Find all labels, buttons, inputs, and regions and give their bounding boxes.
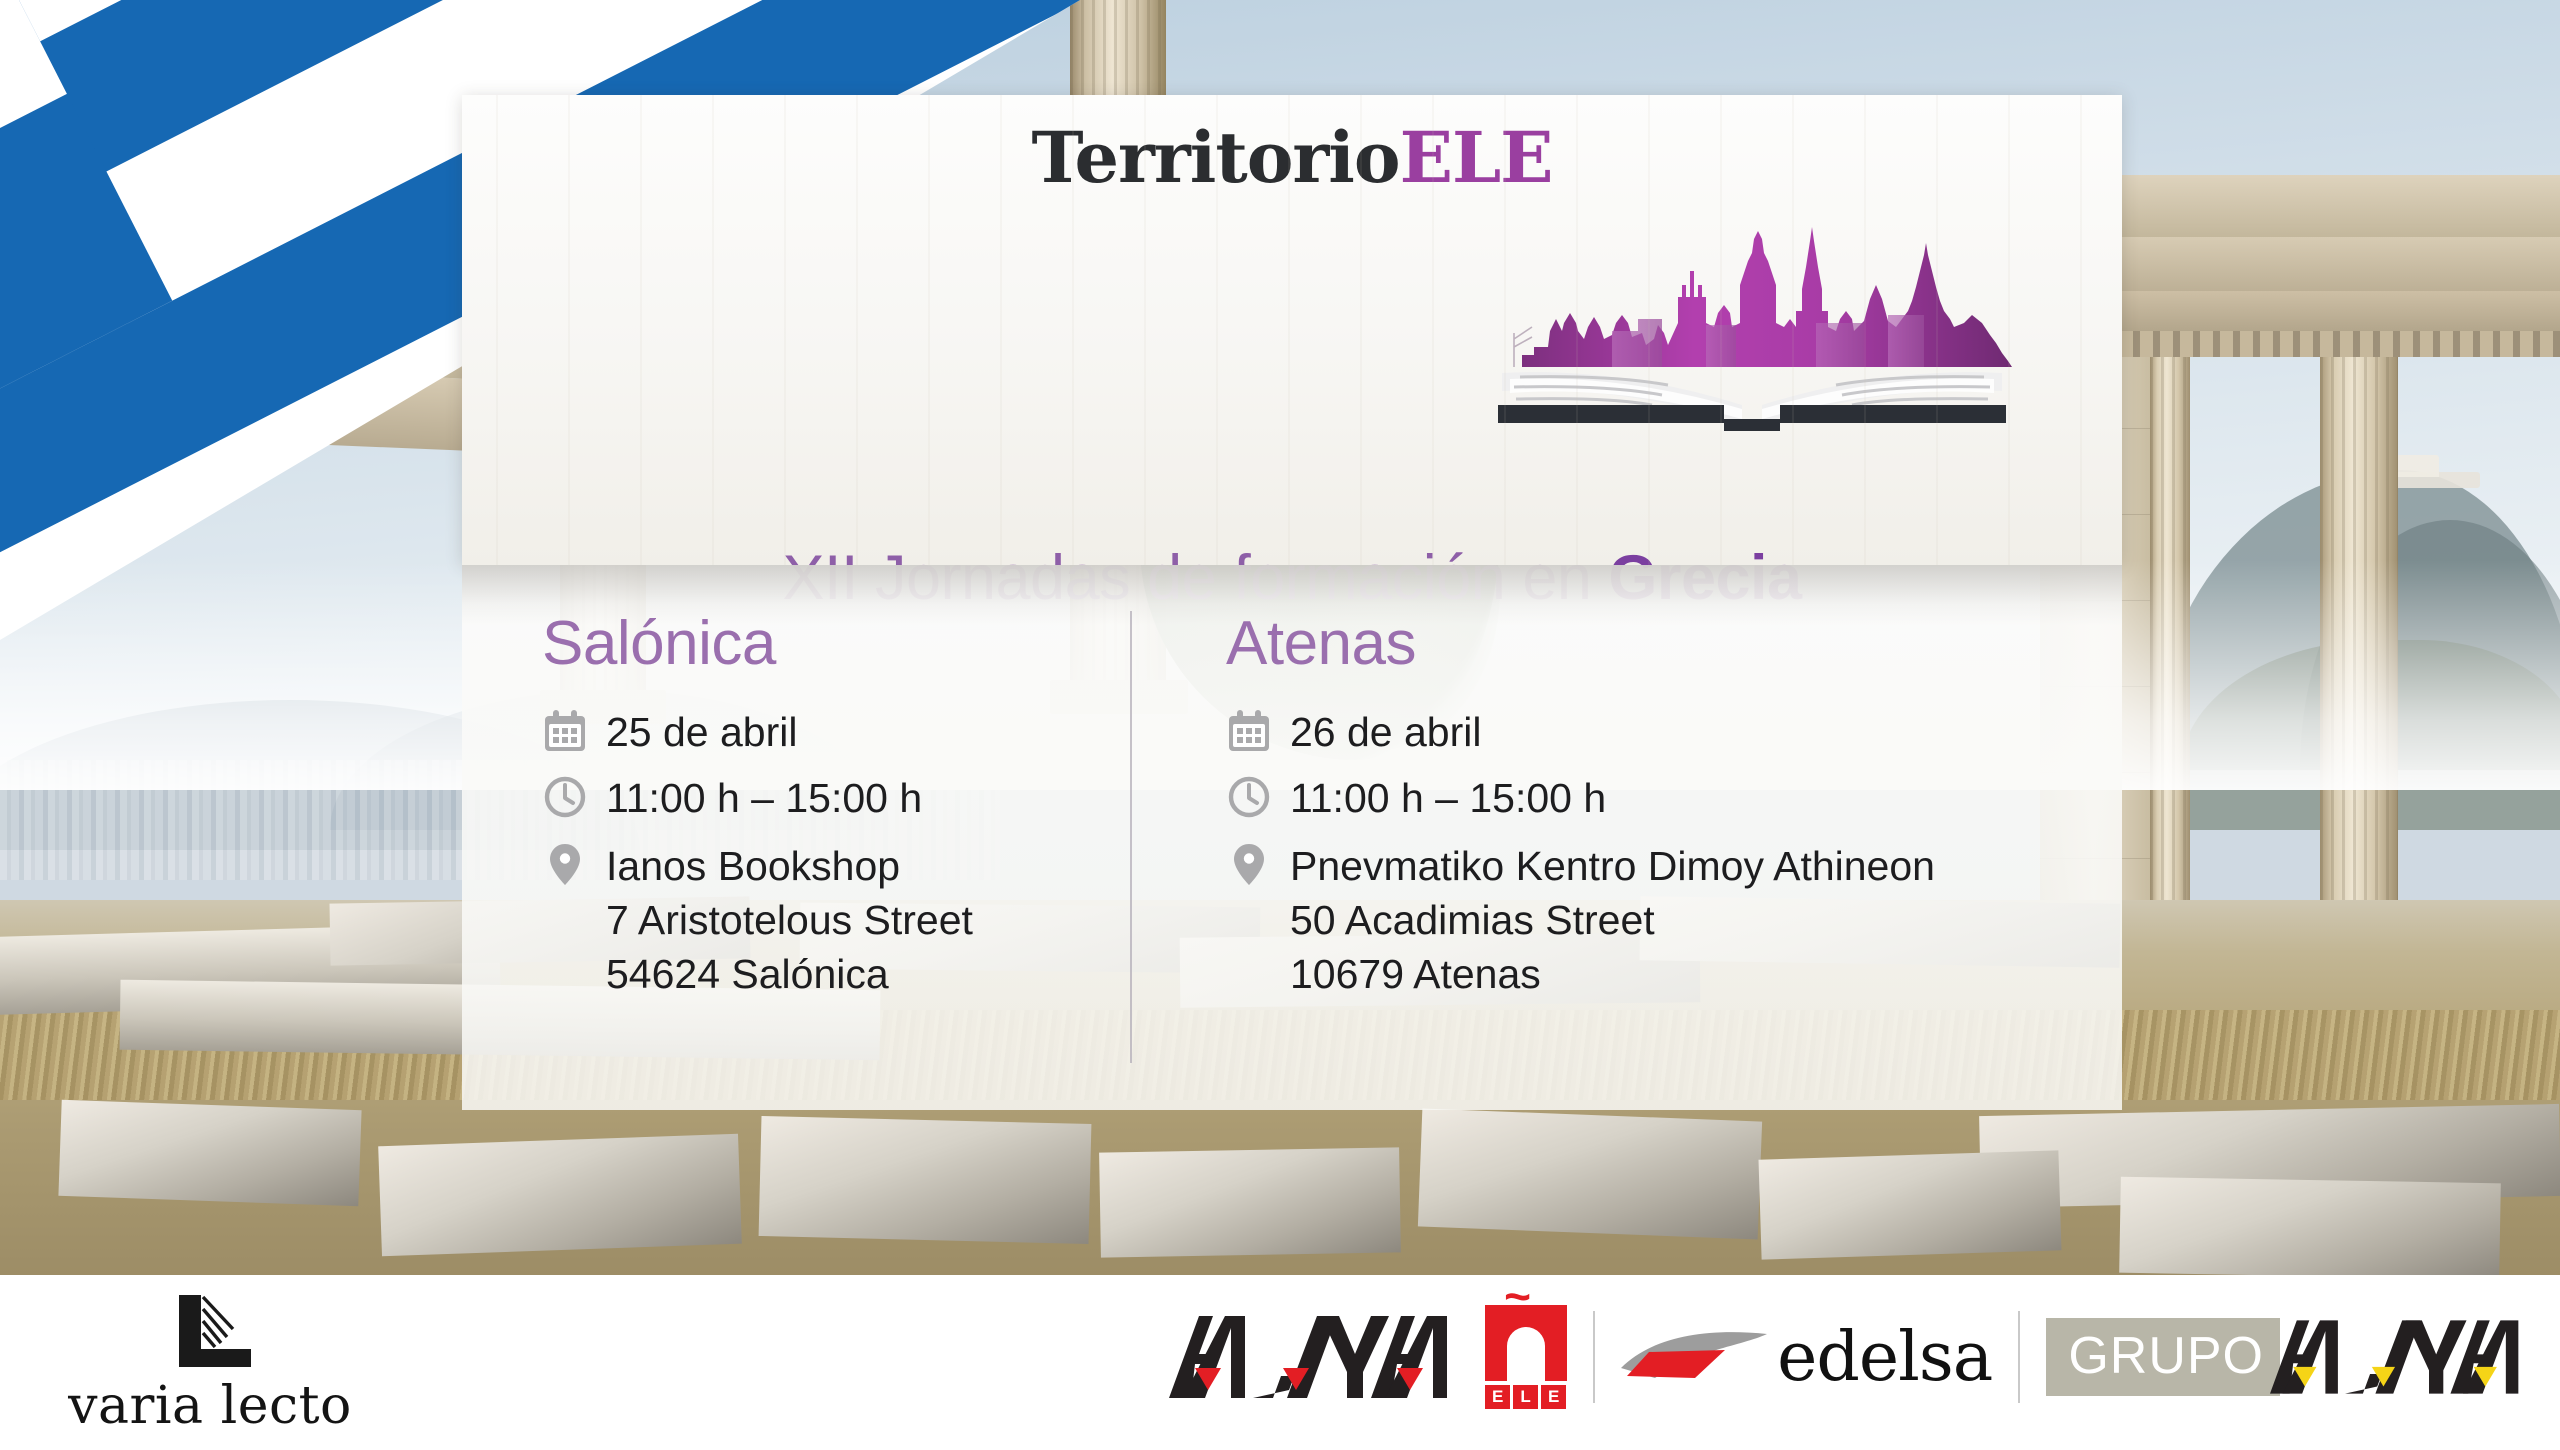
skyline-book-icon	[1492, 227, 2012, 437]
venue-postal: 10679 Atenas	[1290, 951, 1541, 997]
rubble-block	[378, 1134, 742, 1256]
event-date: 26 de abril	[1290, 705, 1481, 757]
map-pin-icon	[542, 837, 606, 893]
calendar-icon	[1226, 705, 1290, 757]
n-ele-mark: ~ E L E	[1485, 1305, 1567, 1409]
event-column-salonica: Salónica 25 de abril 11:00 h – 15:00 h	[462, 565, 1130, 1110]
grupo-label: GRUPO	[2046, 1318, 2280, 1396]
anaya-wordmark	[1169, 1314, 1469, 1400]
city-title-atenas: Atenas	[1226, 613, 2122, 675]
edelsa-logo: edelsa	[1621, 1318, 1992, 1397]
header-card: TerritorioELE	[462, 95, 2122, 565]
rubble-block	[1418, 1109, 1762, 1240]
event-date-row: 26 de abril	[1226, 705, 2122, 757]
rubble-block	[58, 1100, 361, 1206]
anaya-ele-logo: ~ E L E	[1169, 1305, 1567, 1409]
map-pin-icon	[1226, 837, 1290, 893]
varia-lecto-name: varia lecto	[40, 1376, 380, 1436]
event-address-row: Ianos Bookshop 7 Aristotelous Street 546…	[542, 837, 1130, 1001]
venue-street: 7 Aristotelous Street	[606, 897, 973, 943]
calendar-icon	[542, 705, 606, 757]
ele-letter: L	[1513, 1385, 1538, 1409]
rubble-block	[2119, 1177, 2501, 1275]
ele-letter: E	[1485, 1385, 1510, 1409]
event-address: Ianos Bookshop 7 Aristotelous Street 546…	[606, 837, 973, 1001]
logo-separator	[2018, 1311, 2020, 1403]
venue-name: Pnevmatiko Kentro Dimoy Athineon	[1290, 843, 1935, 889]
event-column-atenas: Atenas 26 de abril 11:00 h – 15:00 h	[1130, 565, 2122, 1110]
grupo-anaya-wordmark	[2270, 1318, 2538, 1396]
grupo-anaya-logo: GRUPO	[2046, 1318, 2538, 1396]
edelsa-swoosh-icon	[1621, 1326, 1771, 1388]
n-counter	[1507, 1327, 1545, 1381]
brand-logos: ~ E L E edelsa	[1169, 1297, 2538, 1417]
event-date-row: 25 de abril	[542, 705, 1130, 757]
logo-separator	[1593, 1311, 1595, 1403]
varia-lecto-logo: varia lecto	[40, 1293, 380, 1436]
event-date: 25 de abril	[606, 705, 797, 757]
clock-icon	[542, 771, 606, 823]
event-time-row: 11:00 h – 15:00 h	[542, 771, 1130, 823]
edelsa-wordmark: edelsa	[1777, 1318, 1992, 1397]
temple-entablature-1	[2080, 175, 2560, 237]
rubble-block	[1099, 1147, 1401, 1257]
ele-letters: E L E	[1485, 1385, 1566, 1409]
clock-icon	[1226, 771, 1290, 823]
event-time-row: 11:00 h – 15:00 h	[1226, 771, 2122, 823]
venue-name: Ianos Bookshop	[606, 843, 900, 889]
event-time: 11:00 h – 15:00 h	[606, 771, 922, 823]
venue-street: 50 Acadimias Street	[1290, 897, 1655, 943]
poster: TerritorioELE	[0, 0, 2560, 1450]
details-panel: Salónica 25 de abril 11:00 h – 15:00 h	[462, 565, 2122, 1110]
territorio-ele-logo: TerritorioELE	[462, 123, 2122, 193]
city-title-salonica: Salónica	[542, 613, 1130, 675]
logo-word-territorio: Territorio	[1031, 116, 1399, 199]
venue-postal: 54624 Salónica	[606, 951, 889, 997]
rubble-block	[1759, 1150, 2062, 1259]
ele-letter: E	[1541, 1385, 1566, 1409]
logo-word-ele: ELE	[1400, 116, 1553, 199]
event-address-row: Pnevmatiko Kentro Dimoy Athineon 50 Acad…	[1226, 837, 2122, 1001]
rubble-block	[759, 1116, 1092, 1244]
hilltop-chapel	[2395, 455, 2439, 477]
letter-l-book-mark	[155, 1293, 265, 1371]
event-time: 11:00 h – 15:00 h	[1290, 771, 1606, 823]
event-address: Pnevmatiko Kentro Dimoy Athineon 50 Acad…	[1290, 837, 1935, 1001]
tilde-icon: ~	[1504, 1287, 1548, 1304]
footer-logo-bar: varia lecto	[0, 1275, 2560, 1450]
